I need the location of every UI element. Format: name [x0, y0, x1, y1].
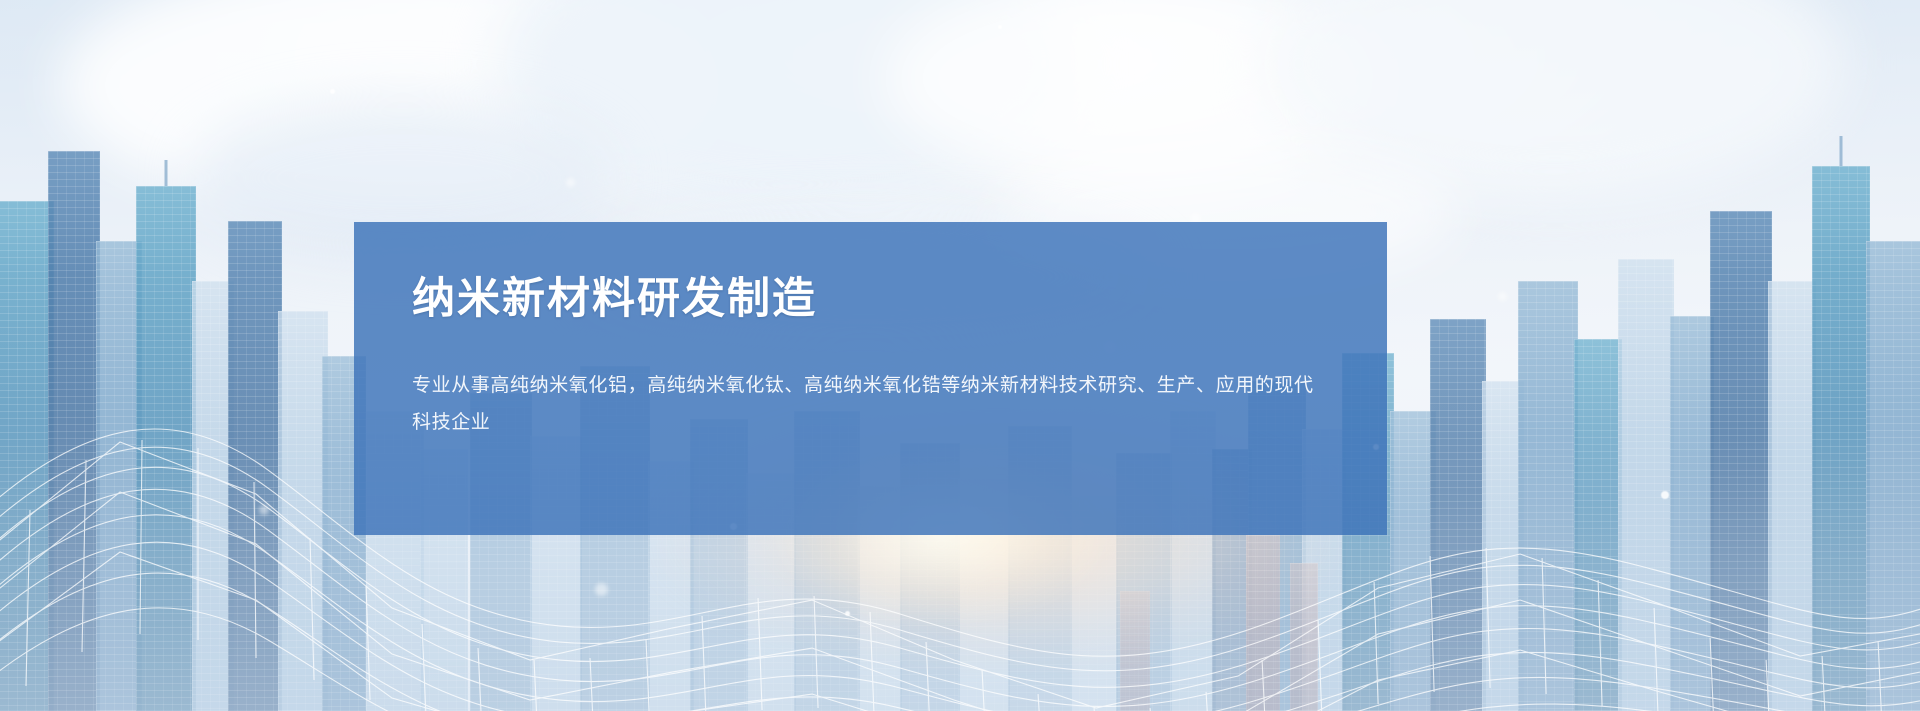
bokeh-dot [259, 505, 269, 515]
building [1710, 211, 1772, 711]
building [1430, 319, 1486, 711]
building [136, 186, 196, 711]
building [1812, 166, 1870, 711]
building [1866, 241, 1920, 711]
hero-text-card: 纳米新材料研发制造 专业从事高纯纳米氧化铝，高纯纳米氧化钛、高纯纳米氧化锆等纳米… [354, 222, 1387, 535]
bokeh-dot [1498, 292, 1507, 301]
building [1618, 259, 1674, 711]
hero-title: 纳米新材料研发制造 [412, 276, 1329, 323]
building [228, 221, 282, 711]
hero-subtitle: 专业从事高纯纳米氧化铝，高纯纳米氧化钛、高纯纳米氧化锆等纳米新材料技术研究、生产… [412, 367, 1329, 441]
building [278, 311, 328, 711]
building [1518, 281, 1578, 711]
building [0, 201, 54, 711]
hero-banner: 纳米新材料研发制造 专业从事高纯纳米氧化铝，高纯纳米氧化钛、高纯纳米氧化锆等纳米… [0, 0, 1920, 711]
building [1574, 339, 1622, 711]
building [1670, 316, 1714, 711]
bokeh-dot [1661, 491, 1669, 499]
building [48, 151, 100, 711]
building [1768, 281, 1816, 711]
